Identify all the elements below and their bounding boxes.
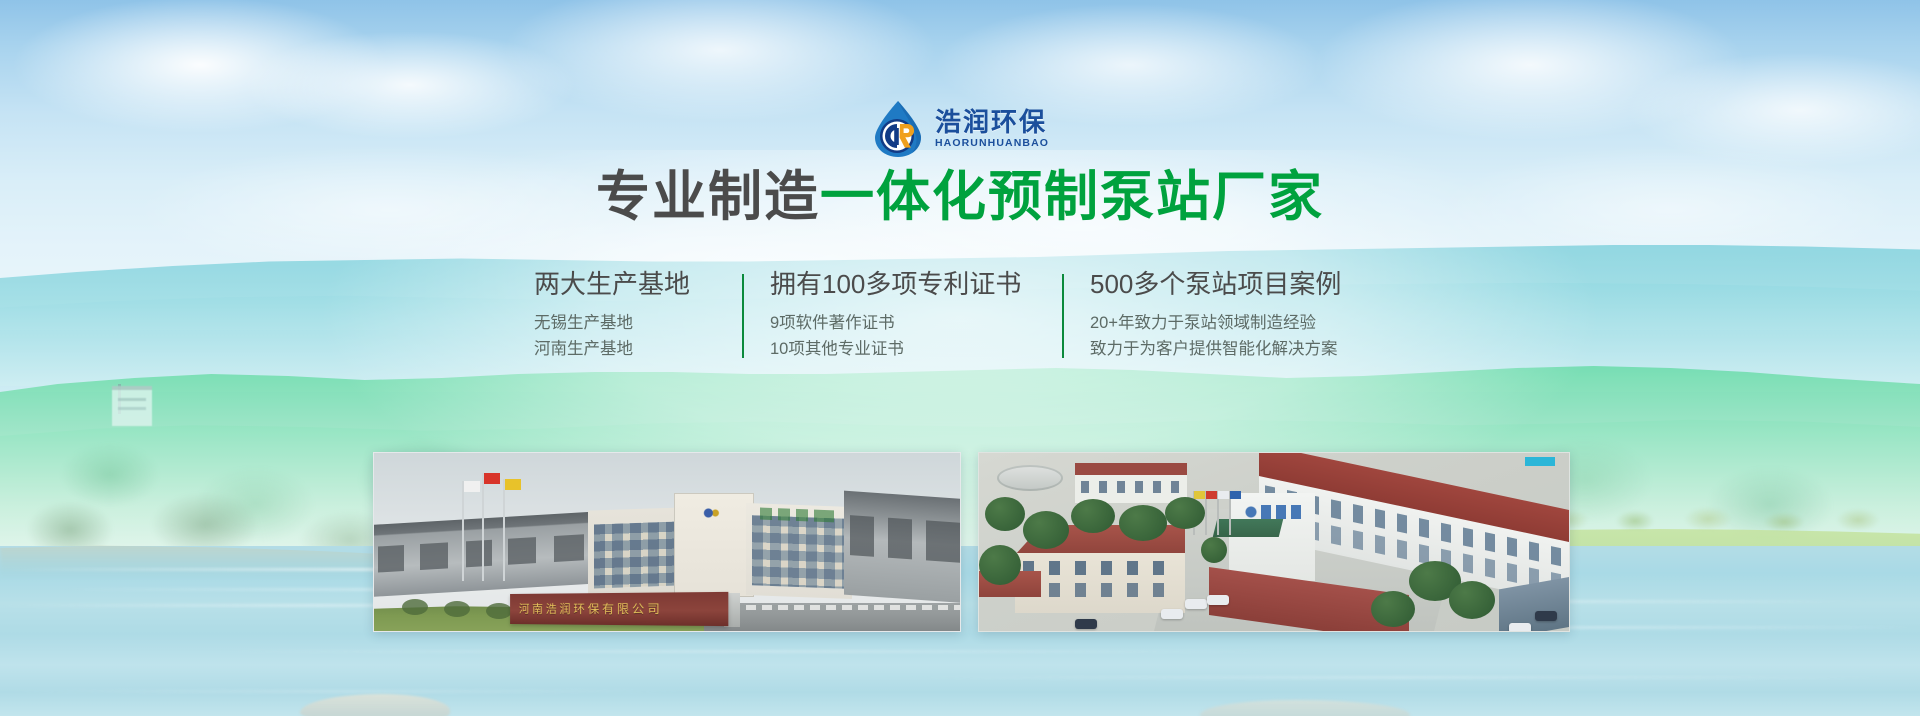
feature-line: 无锡生产基地 — [534, 310, 714, 337]
photo-tree — [1119, 505, 1167, 541]
photo-facade-company-signage — [1243, 505, 1301, 519]
photo-shrub — [402, 599, 428, 615]
photo-shrub — [486, 603, 512, 619]
company-logo[interactable]: 浩润环保 HAORUNHUANBAO — [0, 100, 1920, 158]
photo-tree — [1201, 537, 1227, 563]
henan-factory-photo[interactable]: 河南浩润环保有限公司 — [373, 452, 961, 632]
photo-office-tower — [674, 493, 754, 597]
photo-road-curb — [714, 605, 961, 610]
photo-building-signage — [760, 508, 834, 523]
photo-company-name-sign: 河南浩润环保有限公司 — [510, 592, 728, 626]
logo-company-name-cn: 浩润环保 — [935, 109, 1049, 136]
photo-office-wing-right — [746, 503, 852, 599]
feature-divider-1 — [742, 274, 744, 358]
photo-tree — [1165, 497, 1205, 529]
photo-parked-car — [1509, 623, 1531, 632]
photo-parked-car — [1535, 611, 1557, 621]
feature-line: 10项其他专业证书 — [770, 336, 1034, 363]
photo-flagpole — [503, 479, 505, 581]
photo-office-wing-left — [588, 507, 684, 598]
feature-column-patents: 拥有100多项专利证书 9项软件著作证书 10项其他专业证书 — [742, 268, 1062, 363]
photo-building-logo-icon — [700, 505, 728, 521]
photo-background-dormitory — [1075, 463, 1187, 503]
photo-parked-car — [1185, 599, 1207, 609]
feature-title: 拥有100多项专利证书 — [770, 268, 1034, 301]
hero-banner: 浩润环保 HAORUNHUANBAO 专业制造一体化预制泵站厂家 两大生产基地 … — [0, 0, 1920, 716]
feature-line: 20+年致力于泵站领域制造经验 — [1090, 310, 1386, 337]
feature-line: 致力于为客户提供智能化解决方案 — [1090, 336, 1386, 363]
logo-text-block: 浩润环保 HAORUNHUANBAO — [935, 109, 1049, 150]
photo-tree — [1449, 581, 1495, 619]
hero-headline: 专业制造一体化预制泵站厂家 — [0, 166, 1920, 230]
banner-content: 浩润环保 HAORUNHUANBAO 专业制造一体化预制泵站厂家 两大生产基地 … — [0, 0, 1920, 716]
photo-tree — [979, 545, 1021, 585]
feature-highlights: 两大生产基地 无锡生产基地 河南生产基地 拥有100多项专利证书 9项软件著作证… — [0, 268, 1920, 363]
water-drop-logo-icon — [871, 100, 925, 158]
photo-tree — [985, 497, 1025, 531]
photo-shrub — [444, 601, 470, 617]
feature-line: 9项软件著作证书 — [770, 310, 1034, 337]
feature-title: 500多个泵站项目案例 — [1090, 268, 1386, 301]
feature-divider-2 — [1062, 274, 1064, 358]
photo-tree — [1023, 511, 1069, 549]
photo-flagpole — [482, 473, 484, 581]
photo-parked-car — [1161, 609, 1183, 619]
photo-flagpole — [462, 481, 464, 581]
logo-company-name-en: HAORUNHUANBAO — [935, 137, 1049, 150]
photo-tree — [1071, 499, 1115, 533]
headline-part-dark: 专业制造 — [596, 167, 820, 227]
photo-sign-text: 河南浩润环保有限公司 — [519, 599, 719, 617]
photo-blue-roof-strip — [1525, 457, 1555, 466]
wuxi-factory-aerial-photo[interactable] — [978, 452, 1570, 632]
feature-column-projects: 500多个泵站项目案例 20+年致力于泵站领域制造经验 致力于为客户提供智能化解… — [1062, 268, 1414, 363]
photo-parked-car — [1207, 595, 1229, 605]
feature-line: 河南生产基地 — [534, 336, 714, 363]
photo-workshop-building-right — [844, 491, 961, 604]
feature-column-production-bases: 两大生产基地 无锡生产基地 河南生产基地 — [506, 268, 742, 363]
factory-photo-gallery: 河南浩润环保有限公司 — [373, 452, 1570, 632]
headline-part-green: 一体化预制泵站厂家 — [820, 167, 1324, 227]
photo-water-tank — [997, 465, 1063, 491]
feature-title: 两大生产基地 — [534, 268, 714, 301]
photo-tree — [1371, 591, 1415, 627]
photo-parked-car — [1075, 619, 1097, 629]
